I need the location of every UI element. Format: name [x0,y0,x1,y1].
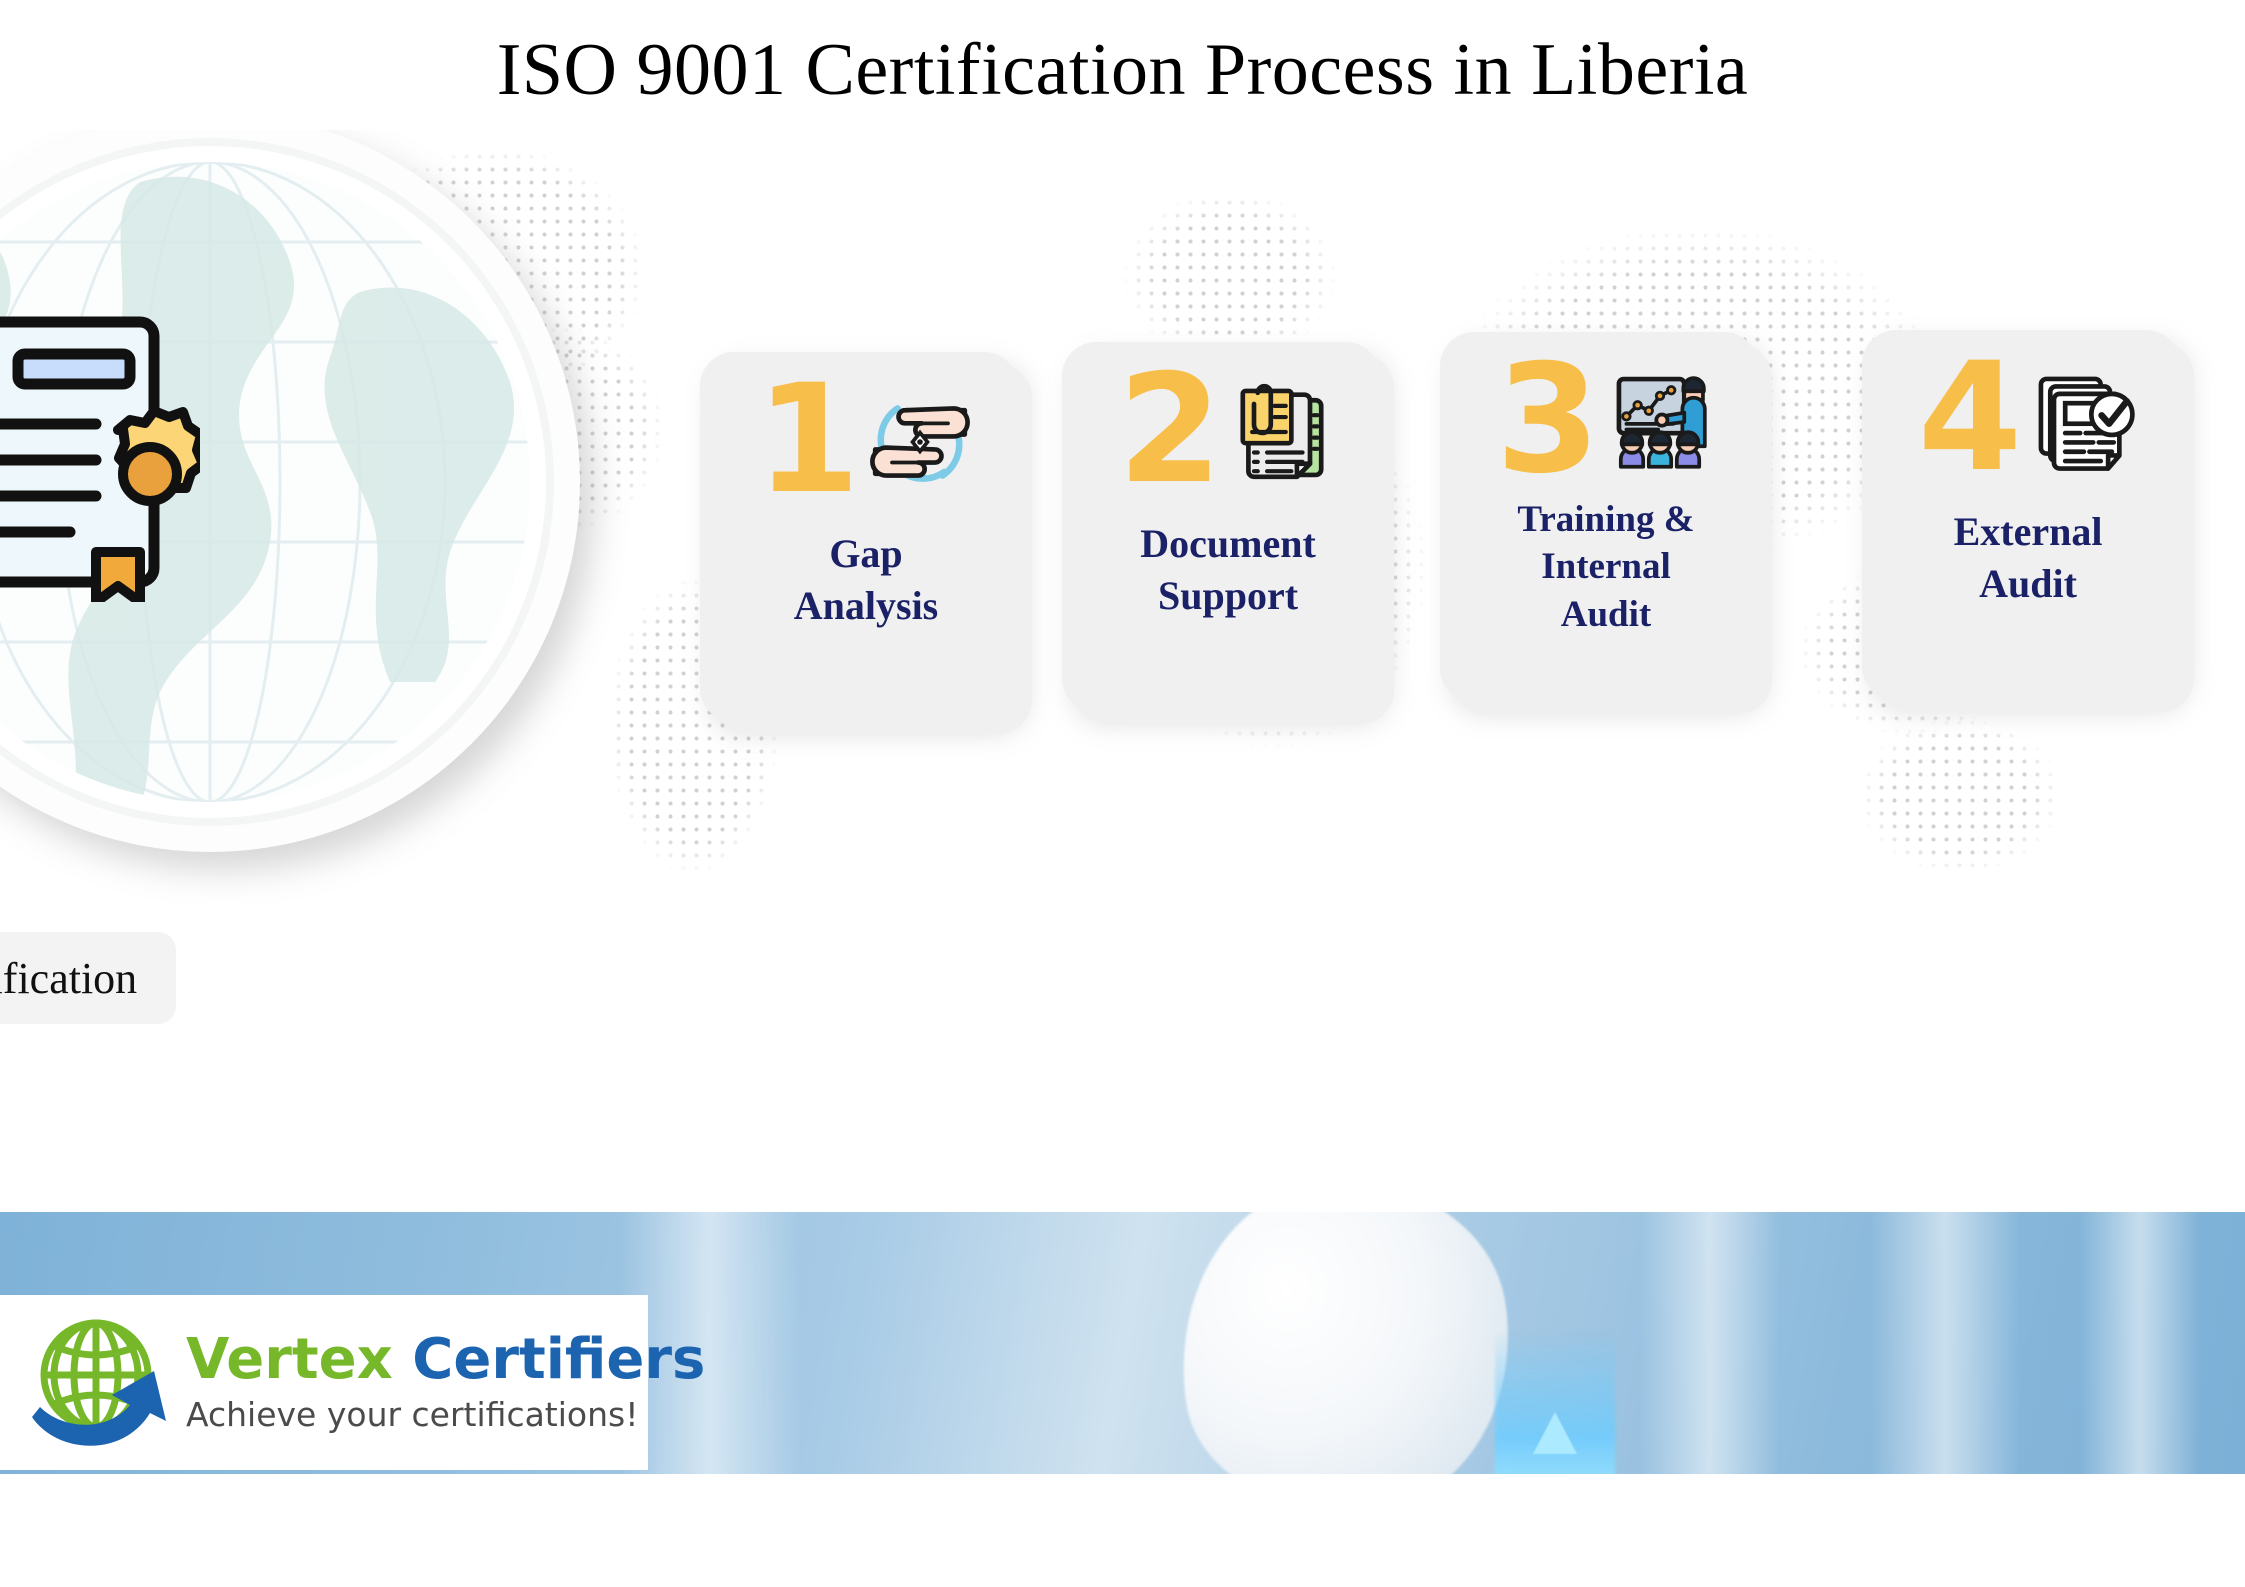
infographic-canvas: ISO 9001 Certification Process in Liberi… [0,0,2245,1587]
step-label-line2: Internal [1517,543,1694,590]
step-card-1-top: 1 [716,362,1016,522]
company-logo[interactable]: Vertex Certifiers Achieve your certifica… [0,1295,648,1470]
certification-label-chip: Certification [0,932,176,1024]
step-label-line1: Gap [794,528,939,580]
step-label-line2: Support [1140,570,1316,622]
step-card-3-top: 3 [1456,342,1756,502]
certification-label: Certification [0,953,137,1004]
step-card-4-inner: 4 [1878,340,2178,694]
step-card-1-inner: 1 [716,362,1016,716]
logo-text-block: Vertex Certifiers Achieve your certifica… [186,1331,705,1433]
training-presentation-icon [1604,366,1716,478]
logo-tagline: Achieve your certifications! [186,1395,705,1434]
main-stage: Certification 1 [0,130,2245,1210]
step-card-2[interactable]: 2 [1062,342,1380,712]
globe-arrow-logo-icon [26,1309,176,1457]
step-label-line1: Document [1140,518,1316,570]
certificate-document-seal-icon [0,302,200,602]
step-number-1: 1 [756,365,860,515]
step-number-2: 2 [1118,355,1222,505]
step-label-line2: Analysis [794,580,939,632]
logo-word-vertex: Vertex [186,1327,393,1392]
step-card-4-top: 4 [1878,340,2178,500]
logo-word-certifiers: Certifiers [412,1327,705,1392]
world-map-dots-australia [1810,690,2110,920]
step-card-2-label: Document Support [1128,518,1328,622]
step-number-3: 3 [1496,345,1600,495]
gloved-hand-photo [1159,1212,1532,1474]
banner-curtain-4 [2080,1212,2200,1474]
step-card-1-label: Gap Analysis [782,528,951,632]
page-title: ISO 9001 Certification Process in Liberi… [0,28,2245,113]
step-card-3-label: Training & Internal Audit [1505,496,1706,638]
step-number-4: 4 [1918,343,2022,493]
step-card-2-top: 2 [1078,352,1378,512]
step-card-4[interactable]: 4 [1862,330,2180,700]
step-card-3[interactable]: 3 [1440,332,1758,702]
step-label-line1: External [1954,506,2103,558]
banner-curtain-3 [1870,1212,2020,1474]
step-label-line3: Audit [1517,591,1694,638]
logo-title: Vertex Certifiers [186,1331,705,1388]
handshake-globe-icon [864,386,976,498]
step-label-line2: Audit [1954,558,2103,610]
glowing-arrow-icon [1533,1412,1577,1454]
step-card-2-inner: 2 [1078,352,1378,706]
audit-documents-check-icon [2026,364,2138,476]
certification-globe-panel: Certification [0,130,580,1112]
step-label-line1: Training & [1517,496,1694,543]
banner-curtain-2 [1640,1212,1780,1474]
step-card-1[interactable]: 1 [700,352,1018,722]
step-card-3-inner: 3 [1456,342,1756,696]
step-card-4-label: External Audit [1942,506,2115,610]
document-paperclip-icon [1226,376,1338,488]
